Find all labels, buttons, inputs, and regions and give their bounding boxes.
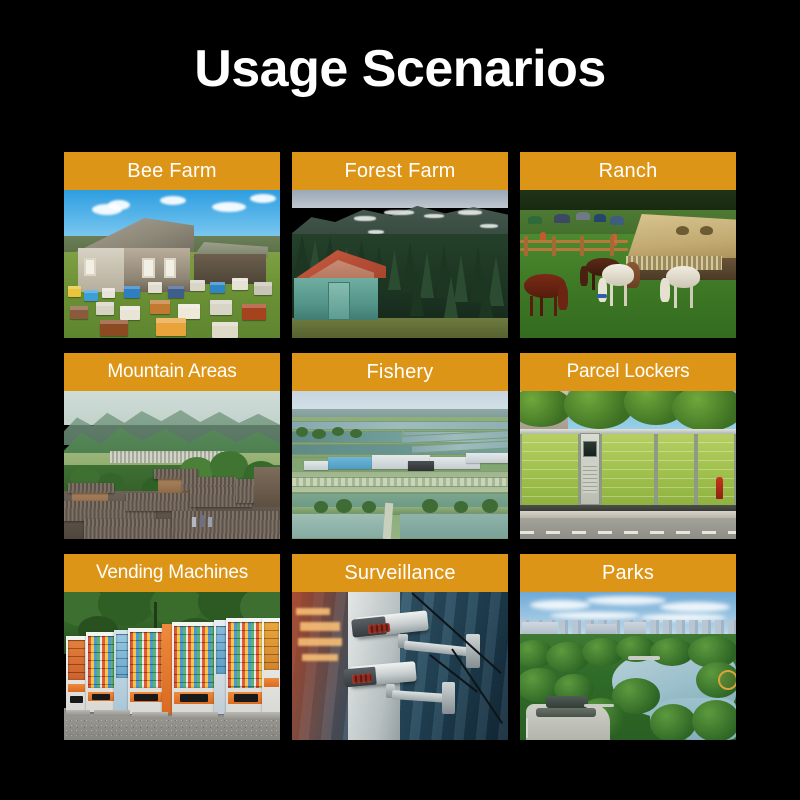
scenario-image-mountain-areas [64, 391, 280, 539]
scenario-label-parks: Parks [520, 554, 736, 592]
scenario-card-surveillance[interactable]: Surveillance [292, 554, 508, 740]
scenario-image-surveillance [292, 592, 508, 740]
scenario-label-forest-farm: Forest Farm [292, 152, 508, 190]
scenario-image-ranch [520, 190, 736, 338]
scenario-label-bee-farm: Bee Farm [64, 152, 280, 190]
scenario-card-fishery[interactable]: Fishery [292, 353, 508, 539]
scenario-card-forest-farm[interactable]: Forest Farm [292, 152, 508, 338]
scenario-card-bee-farm[interactable]: Bee Farm [64, 152, 280, 338]
scenario-card-mountain-areas[interactable]: Mountain Areas [64, 353, 280, 539]
scenario-image-parcel-lockers [520, 391, 736, 539]
scenario-label-parcel-lockers: Parcel Lockers [520, 353, 736, 391]
scenario-grid: Bee Farm [64, 152, 736, 740]
scenario-image-fishery [292, 391, 508, 539]
scenario-image-vending-machines [64, 592, 280, 740]
scenario-label-surveillance: Surveillance [292, 554, 508, 592]
scenario-label-fishery: Fishery [292, 353, 508, 391]
scenario-card-parcel-lockers[interactable]: Parcel Lockers [520, 353, 736, 539]
page-title: Usage Scenarios [0, 38, 800, 100]
poster-root: Usage Scenarios Bee Farm [0, 0, 800, 800]
scenario-card-parks[interactable]: Parks [520, 554, 736, 740]
scenario-label-ranch: Ranch [520, 152, 736, 190]
scenario-label-vending-machines: Vending Machines [64, 554, 280, 592]
scenario-image-bee-farm [64, 190, 280, 338]
scenario-card-vending-machines[interactable]: Vending Machines [64, 554, 280, 740]
scenario-image-parks [520, 592, 736, 740]
scenario-card-ranch[interactable]: Ranch [520, 152, 736, 338]
scenario-image-forest-farm [292, 190, 508, 338]
scenario-label-mountain-areas: Mountain Areas [64, 353, 280, 391]
